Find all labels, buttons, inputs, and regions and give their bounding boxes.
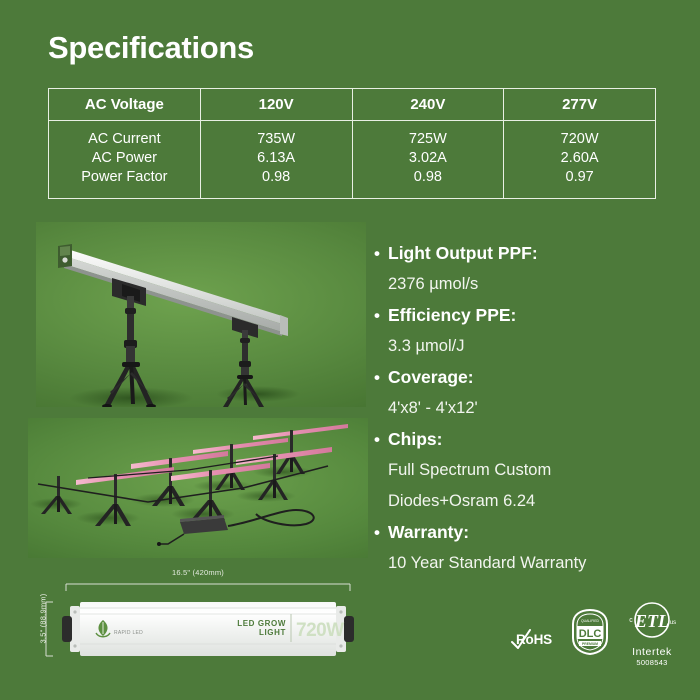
certification-badges: RoHS DLC PREMIUM QUALIFIED ETL c us Inte… bbox=[508, 600, 686, 672]
table-header-277v: 277V bbox=[504, 89, 656, 121]
svg-text:us: us bbox=[670, 620, 676, 626]
feature-value: 2376 µmol/s bbox=[374, 269, 688, 300]
value-120v-power-factor: 0.98 bbox=[203, 168, 350, 187]
etl-badge: ETL c us Intertek 5008543 bbox=[618, 600, 686, 667]
row-label-ac-current: AC Current bbox=[51, 130, 198, 149]
svg-text:720W: 720W bbox=[296, 620, 344, 641]
dimension-diagram: 16.5" (420mm) 3.5" (88.9mm) bbox=[28, 568, 368, 673]
spec-sheet-page: Specifications AC Voltage 120V 240V 277V… bbox=[0, 0, 700, 700]
etl-brand-label: Intertek bbox=[618, 646, 686, 658]
table-header-120v: 120V bbox=[200, 89, 352, 121]
bullet-dot-icon: • bbox=[374, 238, 388, 269]
value-120v-ac-current: 735W bbox=[203, 130, 350, 149]
feature-label: Efficiency PPE: bbox=[388, 300, 516, 331]
value-277v-ac-current: 720W bbox=[506, 130, 653, 149]
feature-value-line2: Diodes+Osram 6.24 bbox=[374, 486, 688, 517]
value-277v-power-factor: 0.97 bbox=[506, 168, 653, 187]
table-header-240v: 240V bbox=[352, 89, 504, 121]
svg-text:DLC: DLC bbox=[579, 628, 602, 640]
dlc-badge: DLC PREMIUM QUALIFIED bbox=[570, 608, 610, 661]
table-cell-row-labels: AC Current AC Power Power Factor bbox=[49, 121, 201, 199]
feature-light-output: • Light Output PPF: 2376 µmol/s bbox=[374, 238, 688, 300]
svg-text:ETL: ETL bbox=[634, 611, 669, 631]
svg-text:QUALIFIED: QUALIFIED bbox=[581, 619, 599, 623]
value-240v-ac-current: 725W bbox=[355, 130, 502, 149]
feature-label-row: • Efficiency PPE: bbox=[374, 300, 688, 331]
feature-label-row: • Warranty: bbox=[374, 517, 688, 548]
svg-text:LIGHT: LIGHT bbox=[259, 628, 286, 637]
feature-label: Chips: bbox=[388, 424, 442, 455]
table-cell-277v: 720W 2.60A 0.97 bbox=[504, 121, 656, 199]
etl-certificate-number: 5008543 bbox=[618, 658, 686, 667]
feature-label: Warranty: bbox=[388, 517, 469, 548]
feature-value: 4'x8' - 4'x12' bbox=[374, 393, 688, 424]
bullet-dot-icon: • bbox=[374, 300, 388, 331]
value-120v-ac-power: 6.13A bbox=[203, 149, 350, 168]
feature-chips: • Chips: Full Spectrum Custom Diodes+Osr… bbox=[374, 424, 688, 517]
feature-coverage: • Coverage: 4'x8' - 4'x12' bbox=[374, 362, 688, 424]
feature-list: • Light Output PPF: 2376 µmol/s • Effici… bbox=[374, 238, 688, 579]
feature-label-row: • Light Output PPF: bbox=[374, 238, 688, 269]
feature-label-row: • Coverage: bbox=[374, 362, 688, 393]
svg-text:PREMIUM: PREMIUM bbox=[582, 642, 598, 646]
bullet-dot-icon: • bbox=[374, 362, 388, 393]
table-cell-240v: 725W 3.02A 0.98 bbox=[352, 121, 504, 199]
feature-label-row: • Chips: bbox=[374, 424, 688, 455]
driver-unit bbox=[157, 515, 228, 546]
specifications-table: AC Voltage 120V 240V 277V AC Current AC … bbox=[48, 88, 656, 199]
feature-value: Full Spectrum Custom bbox=[374, 455, 688, 486]
row-label-ac-power: AC Power bbox=[51, 149, 198, 168]
table-header-ac-voltage: AC Voltage bbox=[49, 89, 201, 121]
feature-value: 10 Year Standard Warranty bbox=[374, 548, 688, 579]
value-240v-ac-power: 3.02A bbox=[355, 149, 502, 168]
rohs-label: RoHS bbox=[516, 632, 552, 647]
feature-label: Coverage: bbox=[388, 362, 474, 393]
svg-text:LED GROW: LED GROW bbox=[237, 619, 286, 628]
feature-efficiency: • Efficiency PPE: 3.3 µmol/J bbox=[374, 300, 688, 362]
table-header-row: AC Voltage 120V 240V 277V bbox=[49, 89, 656, 121]
value-240v-power-factor: 0.98 bbox=[355, 168, 502, 187]
bullet-dot-icon: • bbox=[374, 517, 388, 548]
bullet-dot-icon: • bbox=[374, 424, 388, 455]
svg-text:RAPID LED: RAPID LED bbox=[114, 630, 143, 636]
feature-value: 3.3 µmol/J bbox=[374, 331, 688, 362]
feature-warranty: • Warranty: 10 Year Standard Warranty bbox=[374, 517, 688, 579]
table-cell-120v: 735W 6.13A 0.98 bbox=[200, 121, 352, 199]
row-label-power-factor: Power Factor bbox=[51, 168, 198, 187]
feature-label: Light Output PPF: bbox=[388, 238, 538, 269]
table-row: AC Current AC Power Power Factor 735W 6.… bbox=[49, 121, 656, 199]
page-title: Specifications bbox=[48, 30, 254, 66]
svg-text:c: c bbox=[629, 617, 633, 624]
value-277v-ac-power: 2.60A bbox=[506, 149, 653, 168]
product-image-single-bar bbox=[36, 222, 366, 407]
product-image-array-bars bbox=[28, 418, 368, 558]
